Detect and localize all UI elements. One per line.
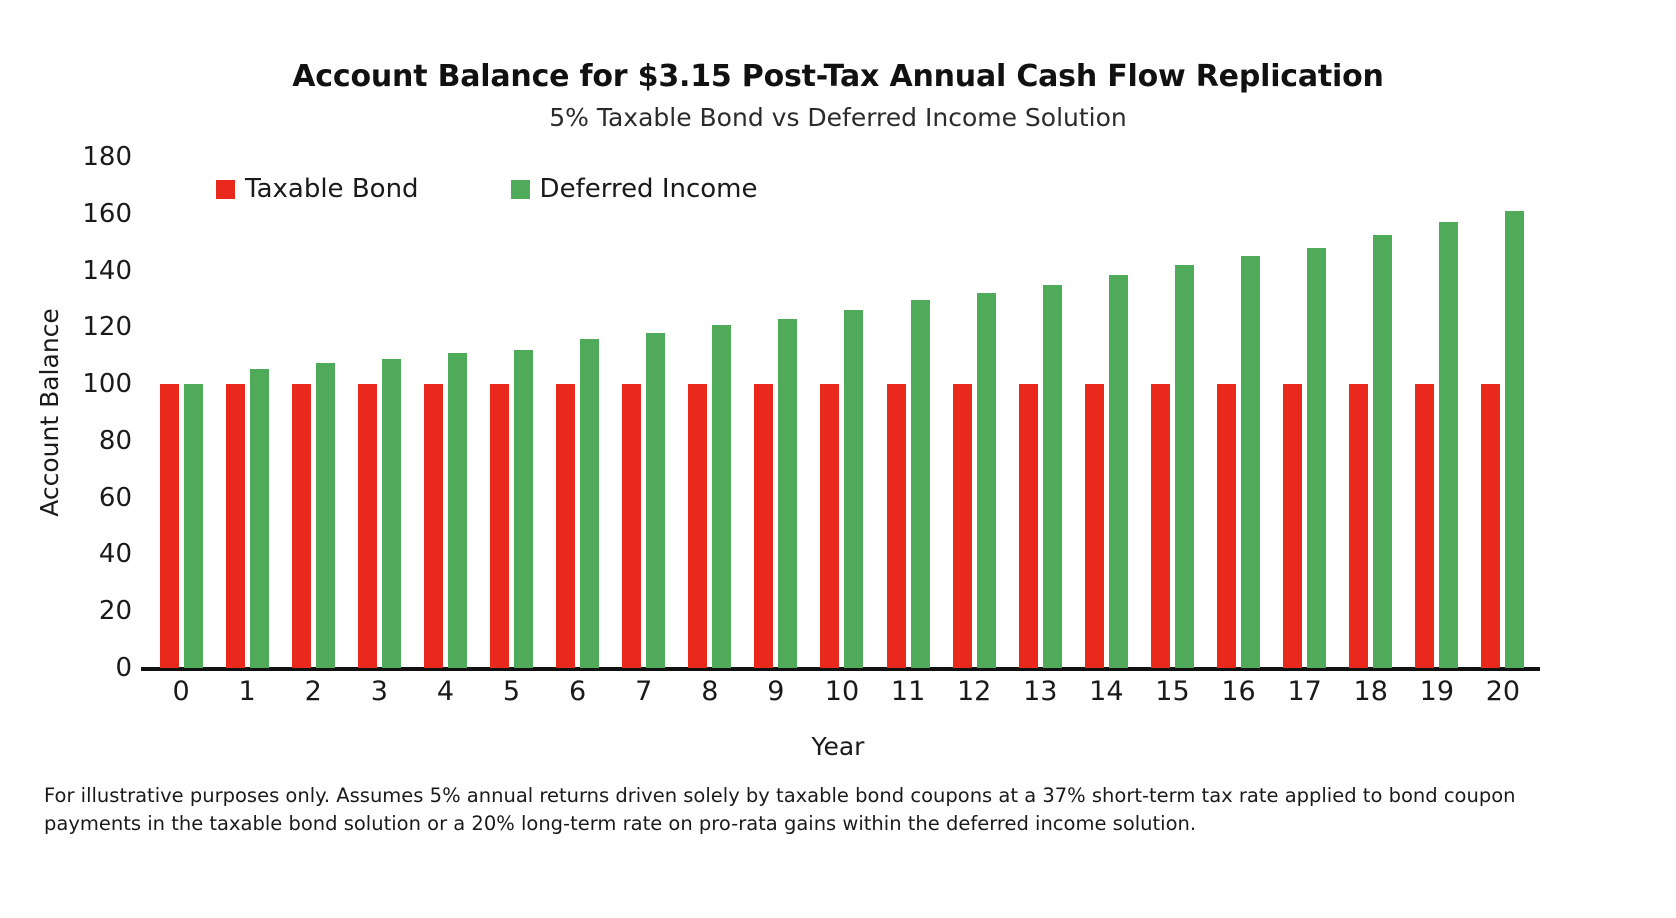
bar-deferred-income[interactable]: [1307, 248, 1326, 668]
bar-taxable-bond[interactable]: [1415, 384, 1434, 668]
bar-group: [677, 157, 743, 668]
bar-group: [545, 157, 611, 668]
y-axis-tick: 0: [115, 655, 132, 681]
title-block: Account Balance for $3.15 Post-Tax Annua…: [0, 58, 1676, 134]
y-axis-tick: 140: [82, 258, 132, 284]
bar-taxable-bond[interactable]: [1481, 384, 1500, 668]
y-axis-tick: 40: [99, 541, 132, 567]
bar-taxable-bond[interactable]: [1283, 384, 1302, 668]
y-axis-tick: 60: [99, 485, 132, 511]
bar-group: [1404, 157, 1470, 668]
x-axis-tick: 5: [478, 678, 544, 705]
bar-group: [412, 157, 478, 668]
x-axis-tick: 0: [148, 678, 214, 705]
bar-taxable-bond[interactable]: [226, 384, 245, 668]
bar-deferred-income[interactable]: [448, 353, 467, 668]
bar-deferred-income[interactable]: [514, 350, 533, 668]
bar-taxable-bond[interactable]: [1019, 384, 1038, 668]
bar-group: [611, 157, 677, 668]
x-axis-tick: 2: [280, 678, 346, 705]
x-axis-tick: 13: [1007, 678, 1073, 705]
bars-layer: [148, 157, 1536, 668]
x-axis-tick: 7: [611, 678, 677, 705]
x-axis-tick: 3: [346, 678, 412, 705]
x-axis-tick: 20: [1470, 678, 1536, 705]
x-axis-ticks: 01234567891011121314151617181920: [148, 678, 1536, 705]
bar-taxable-bond[interactable]: [953, 384, 972, 668]
bar-taxable-bond[interactable]: [424, 384, 443, 668]
bar-group: [1470, 157, 1536, 668]
x-axis-tick: 9: [743, 678, 809, 705]
legend-swatch-icon: [511, 180, 530, 199]
x-axis-tick: 10: [809, 678, 875, 705]
x-axis-tick: 16: [1206, 678, 1272, 705]
x-axis-tick: 12: [941, 678, 1007, 705]
bar-taxable-bond[interactable]: [358, 384, 377, 668]
x-axis-tick: 14: [1073, 678, 1139, 705]
bar-group: [875, 157, 941, 668]
legend-item[interactable]: Deferred Income: [511, 176, 758, 202]
y-axis-tick: 160: [82, 201, 132, 227]
bar-group: [1139, 157, 1205, 668]
bar-deferred-income[interactable]: [1439, 222, 1458, 668]
chart-title: Account Balance for $3.15 Post-Tax Annua…: [0, 58, 1676, 96]
legend-label: Deferred Income: [540, 176, 758, 202]
bar-deferred-income[interactable]: [844, 310, 863, 668]
y-axis-tick: 80: [99, 428, 132, 454]
bar-group: [1073, 157, 1139, 668]
bar-taxable-bond[interactable]: [490, 384, 509, 668]
bar-deferred-income[interactable]: [184, 384, 203, 668]
bar-deferred-income[interactable]: [778, 319, 797, 668]
x-axis-tick: 1: [214, 678, 280, 705]
x-axis-tick: 11: [875, 678, 941, 705]
bar-deferred-income[interactable]: [911, 300, 930, 668]
y-axis-tick: 20: [99, 598, 132, 624]
bar-taxable-bond[interactable]: [292, 384, 311, 668]
x-axis-title: Year: [0, 732, 1676, 761]
bar-taxable-bond[interactable]: [556, 384, 575, 668]
bar-taxable-bond[interactable]: [1085, 384, 1104, 668]
bar-group: [478, 157, 544, 668]
bar-group: [743, 157, 809, 668]
bar-deferred-income[interactable]: [1505, 211, 1524, 668]
legend-label: Taxable Bond: [245, 176, 419, 202]
bar-group: [1206, 157, 1272, 668]
y-axis-tick: 180: [82, 144, 132, 170]
bar-deferred-income[interactable]: [1109, 275, 1128, 668]
bar-group: [941, 157, 1007, 668]
bar-deferred-income[interactable]: [1043, 285, 1062, 668]
bar-deferred-income[interactable]: [1241, 256, 1260, 668]
bar-taxable-bond[interactable]: [622, 384, 641, 668]
bar-taxable-bond[interactable]: [1151, 384, 1170, 668]
x-axis-tick: 6: [545, 678, 611, 705]
bar-group: [1272, 157, 1338, 668]
bar-group: [280, 157, 346, 668]
plot-area: 180160140120100806040200: [148, 157, 1536, 668]
bar-taxable-bond[interactable]: [1217, 384, 1236, 668]
bar-group: [148, 157, 214, 668]
chart-footnote: For illustrative purposes only. Assumes …: [44, 782, 1544, 837]
bar-group: [1338, 157, 1404, 668]
bar-taxable-bond[interactable]: [160, 384, 179, 668]
y-axis-tick: 120: [82, 314, 132, 340]
legend-swatch-icon: [216, 180, 235, 199]
bar-taxable-bond[interactable]: [688, 384, 707, 668]
bar-taxable-bond[interactable]: [887, 384, 906, 668]
legend-item[interactable]: Taxable Bond: [216, 176, 419, 202]
bar-taxable-bond[interactable]: [754, 384, 773, 668]
bar-group: [809, 157, 875, 668]
x-axis-tick: 4: [412, 678, 478, 705]
bar-taxable-bond[interactable]: [820, 384, 839, 668]
x-axis-tick: 19: [1404, 678, 1470, 705]
bar-deferred-income[interactable]: [1373, 235, 1392, 668]
chart-figure: Account Balance for $3.15 Post-Tax Annua…: [0, 0, 1676, 918]
bar-group: [1007, 157, 1073, 668]
bar-deferred-income[interactable]: [1175, 265, 1194, 668]
bar-deferred-income[interactable]: [580, 339, 599, 668]
x-axis-tick: 17: [1272, 678, 1338, 705]
chart-subtitle: 5% Taxable Bond vs Deferred Income Solut…: [0, 102, 1676, 135]
x-axis-tick: 15: [1139, 678, 1205, 705]
bar-taxable-bond[interactable]: [1349, 384, 1368, 668]
y-axis-title: Account Balance: [32, 157, 66, 668]
bar-deferred-income[interactable]: [646, 333, 665, 668]
bar-group: [346, 157, 412, 668]
chart-legend: Taxable BondDeferred Income: [216, 176, 758, 202]
bar-deferred-income[interactable]: [250, 369, 269, 669]
x-axis-tick: 8: [677, 678, 743, 705]
bar-deferred-income[interactable]: [382, 359, 401, 668]
y-axis-tick: 100: [82, 371, 132, 397]
bar-group: [214, 157, 280, 668]
plot-inner: 180160140120100806040200: [148, 157, 1536, 668]
bar-deferred-income[interactable]: [712, 325, 731, 669]
y-axis-title-label: Account Balance: [35, 308, 64, 517]
x-axis-tick: 18: [1338, 678, 1404, 705]
bar-deferred-income[interactable]: [977, 293, 996, 668]
bar-deferred-income[interactable]: [316, 363, 335, 668]
